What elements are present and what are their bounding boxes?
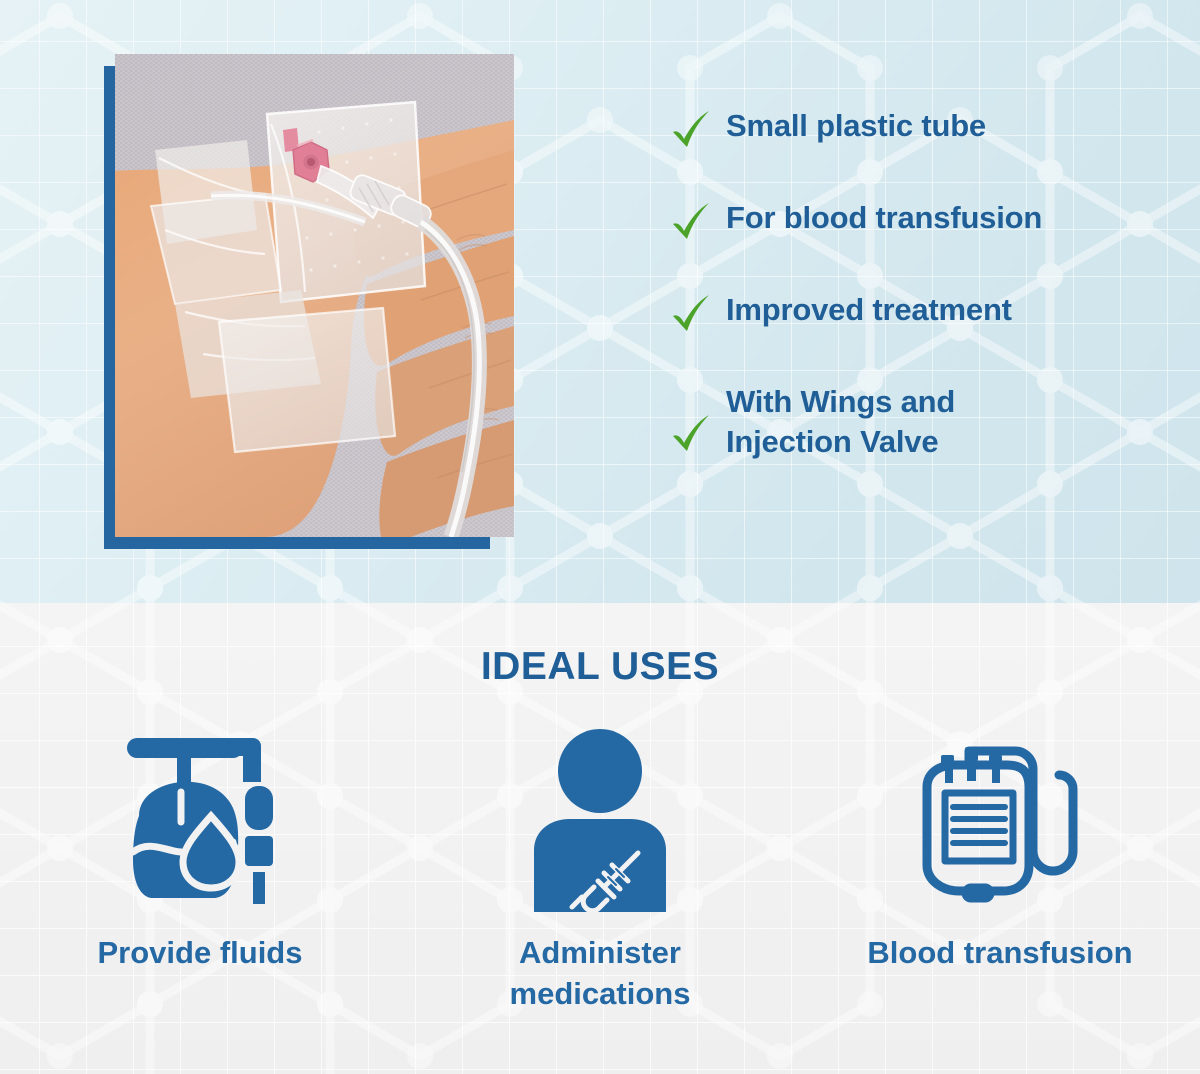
ideal-use-label: Blood transfusion	[867, 933, 1132, 974]
check-icon	[668, 198, 714, 244]
feature-label: For blood transfusion	[726, 196, 1042, 238]
feature-label: Improved treatment	[726, 288, 1012, 330]
feature-label: With Wings and Injection Valve	[726, 380, 1006, 461]
blood-bag-icon	[905, 722, 1095, 917]
person-syringe-icon	[520, 722, 680, 917]
iv-fluid-bag-icon	[115, 722, 285, 917]
ideal-use-item: Administer medications	[400, 722, 800, 1015]
check-icon	[668, 106, 714, 152]
feature-item: Improved treatment	[668, 288, 1168, 342]
feature-item: Small plastic tube	[668, 104, 1168, 158]
feature-label: Small plastic tube	[726, 104, 986, 146]
ideal-use-item: Provide fluids	[0, 722, 400, 1015]
ideal-use-item: Blood transfusion	[800, 722, 1200, 1015]
check-icon	[668, 410, 714, 456]
feature-item: With Wings and Injection Valve	[668, 380, 1168, 461]
ideal-uses-title: IDEAL USES	[0, 645, 1200, 689]
feature-list: Small plastic tube For blood transfusion…	[668, 104, 1168, 461]
check-icon	[668, 290, 714, 336]
ideal-use-label: Administer medications	[485, 933, 715, 1015]
iv-cannula-on-hand-photo	[115, 54, 514, 537]
feature-item: For blood transfusion	[668, 196, 1168, 250]
ideal-use-label: Provide fluids	[98, 933, 303, 974]
infographic-canvas: Small plastic tube For blood transfusion…	[0, 0, 1200, 1074]
ideal-uses-row: Provide fluids	[0, 722, 1200, 1015]
photo-block	[104, 54, 514, 549]
